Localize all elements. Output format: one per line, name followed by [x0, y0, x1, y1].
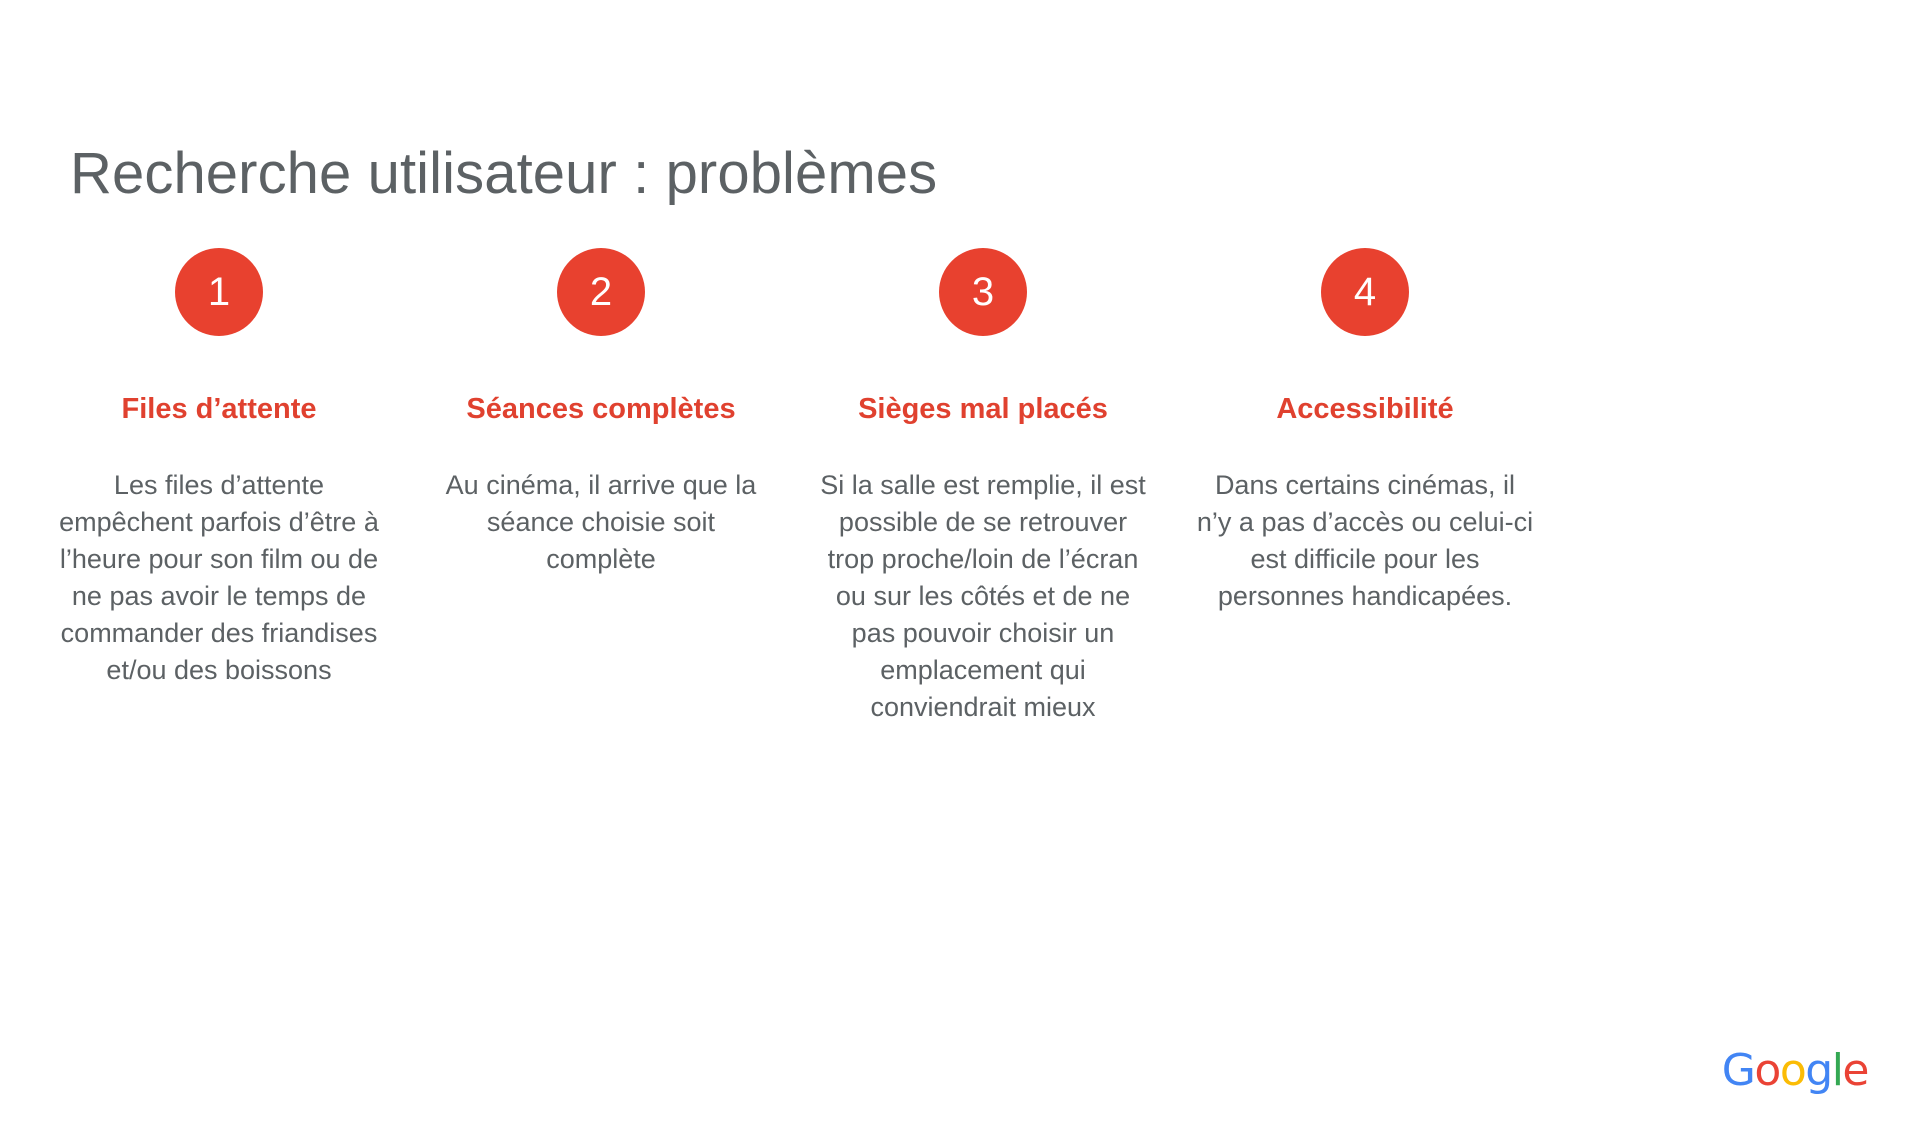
problem-number-badge-3: 3: [939, 248, 1027, 336]
page-title: Recherche utilisateur : problèmes: [70, 141, 937, 208]
google-logo-letter-o1: o: [1754, 1049, 1779, 1093]
problem-body-3: Si la salle est remplie, il est possible…: [813, 467, 1153, 726]
problem-body-2: Au cinéma, il arrive que la séance chois…: [431, 467, 771, 578]
problem-number-badge-4: 4: [1321, 248, 1409, 336]
google-logo-letter-e: e: [1842, 1049, 1868, 1093]
problem-number-badge-2: 2: [557, 248, 645, 336]
problem-column-3: 3 Sièges mal placés Si la salle est remp…: [792, 248, 1174, 726]
google-logo-letter-l: l: [1832, 1049, 1843, 1093]
slide-canvas: Recherche utilisateur : problèmes 1 File…: [0, 0, 1920, 1125]
problem-heading-3: Sièges mal placés: [858, 392, 1108, 427]
problem-columns: 1 Files d’attente Les files d’attente em…: [28, 248, 1892, 726]
problem-heading-4: Accessibilité: [1276, 392, 1453, 427]
google-logo-letter-g2: g: [1805, 1049, 1831, 1093]
problem-body-4: Dans certains cinémas, il n’y a pas d’ac…: [1195, 467, 1535, 615]
problem-column-4: 4 Accessibilité Dans certains cinémas, i…: [1174, 248, 1556, 615]
problem-number-badge-1: 1: [175, 248, 263, 336]
problem-column-1: 1 Files d’attente Les files d’attente em…: [28, 248, 410, 689]
problem-heading-2: Séances complètes: [466, 392, 735, 427]
google-logo: Google: [1722, 1049, 1868, 1093]
problem-heading-1: Files d’attente: [122, 392, 317, 427]
problem-column-2: 2 Séances complètes Au cinéma, il arrive…: [410, 248, 792, 578]
google-logo-letter-o2: o: [1780, 1049, 1805, 1093]
problem-body-1: Les files d’attente empêchent parfois d’…: [49, 467, 389, 689]
google-logo-letter-g1: G: [1722, 1049, 1755, 1093]
